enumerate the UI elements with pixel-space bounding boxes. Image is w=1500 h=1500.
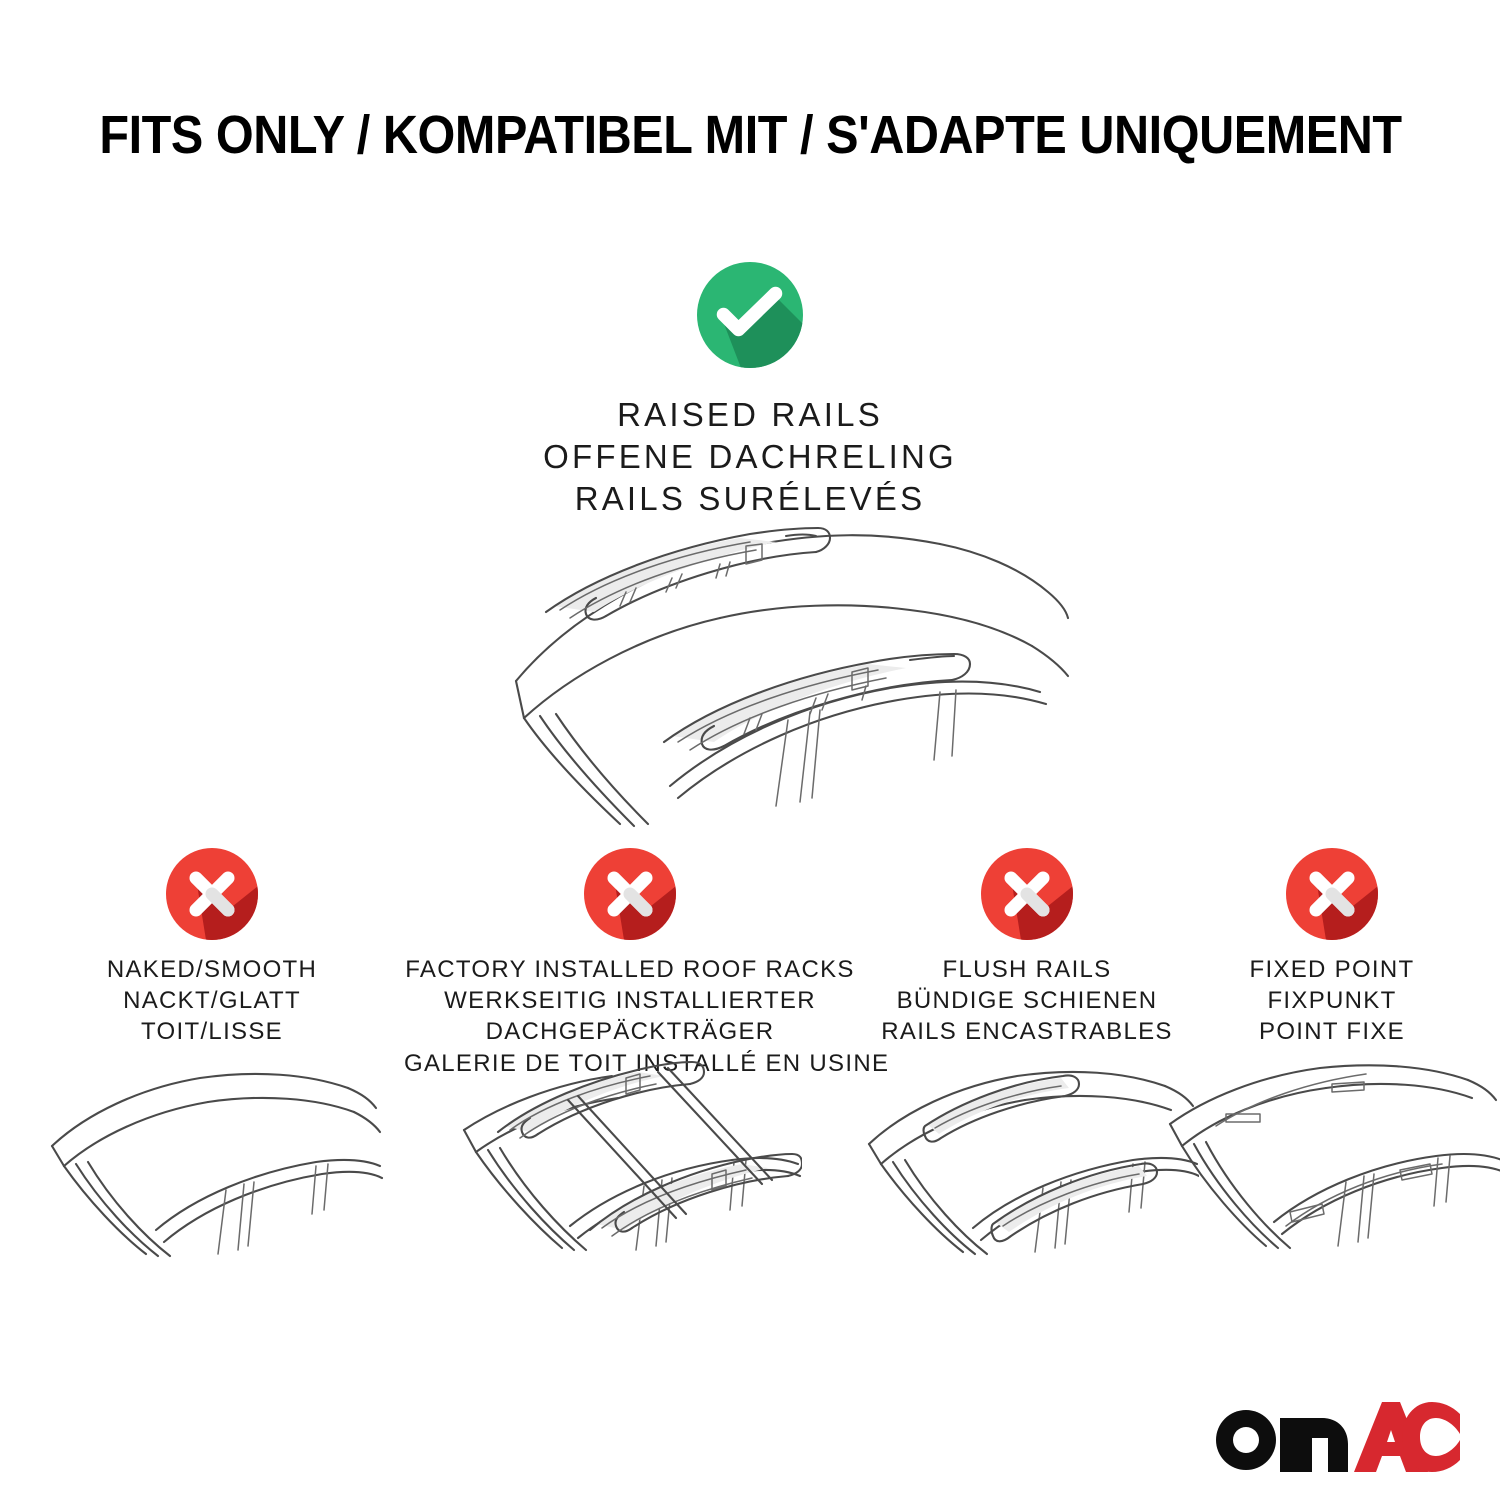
rejected-item-factory-roof-racks: FACTORY INSTALLED ROOF RACKS WERKSEITIG …	[404, 848, 856, 1079]
rejected-label-de-1: WERKSEITIG INSTALLIERTER	[404, 985, 856, 1016]
rejected-label-de: NACKT/GLATT	[42, 985, 382, 1016]
page-title-bar: FITS ONLY / KOMPATIBEL MIT / S'ADAPTE UN…	[0, 104, 1500, 166]
rejected-label-en: FIXED POINT	[1196, 954, 1468, 985]
rejected-section: NAKED/SMOOTH NACKT/GLATT TOIT/LISSE	[0, 848, 1500, 1368]
approved-label-en: RAISED RAILS	[0, 394, 1500, 436]
rejected-label-en: NAKED/SMOOTH	[42, 954, 382, 985]
approved-label-group: RAISED RAILS OFFENE DACHRELING RAILS SUR…	[0, 394, 1500, 521]
approved-label-de: OFFENE DACHRELING	[0, 436, 1500, 478]
rejected-label-de: BÜNDIGE SCHIENEN	[862, 985, 1192, 1016]
omac-logo	[1210, 1396, 1460, 1472]
rejected-label-fr: POINT FIXE	[1196, 1016, 1468, 1047]
x-circle-icon	[584, 848, 676, 940]
approved-section: RAISED RAILS OFFENE DACHRELING RAILS SUR…	[0, 262, 1500, 521]
rejected-label-en: FLUSH RAILS	[862, 954, 1192, 985]
x-circle-icon	[981, 848, 1073, 940]
rejected-label-fr: RAILS ENCASTRABLES	[862, 1016, 1192, 1047]
rejected-item-flush-rails: FLUSH RAILS BÜNDIGE SCHIENEN RAILS ENCAS…	[862, 848, 1192, 1048]
rejected-label-group: FLUSH RAILS BÜNDIGE SCHIENEN RAILS ENCAS…	[862, 954, 1192, 1048]
rejected-item-naked-smooth: NAKED/SMOOTH NACKT/GLATT TOIT/LISSE	[42, 848, 382, 1048]
x-circle-icon	[1286, 848, 1378, 940]
car-roof-fixed-point-illustration	[1160, 1054, 1500, 1304]
car-roof-naked-smooth-illustration	[40, 1054, 384, 1304]
x-circle-icon	[166, 848, 258, 940]
check-circle-icon	[697, 262, 803, 368]
car-roof-factory-roof-racks-illustration	[458, 1054, 802, 1304]
rejected-label-de: FIXPUNKT	[1196, 985, 1468, 1016]
rejected-label-group: FIXED POINT FIXPUNKT POINT FIXE	[1196, 954, 1468, 1048]
rejected-label-de-2: DACHGEPÄCKTRÄGER	[404, 1016, 856, 1047]
car-roof-flush-rails-illustration	[855, 1054, 1199, 1304]
rejected-label-group: NAKED/SMOOTH NACKT/GLATT TOIT/LISSE	[42, 954, 382, 1048]
rejected-item-fixed-point: FIXED POINT FIXPUNKT POINT FIXE	[1196, 848, 1468, 1048]
car-roof-with-raised-rails-illustration	[420, 506, 1080, 836]
rejected-label-fr: TOIT/LISSE	[42, 1016, 382, 1047]
rejected-label-en: FACTORY INSTALLED ROOF RACKS	[404, 954, 856, 985]
page-title: FITS ONLY / KOMPATIBEL MIT / S'ADAPTE UN…	[99, 104, 1401, 166]
